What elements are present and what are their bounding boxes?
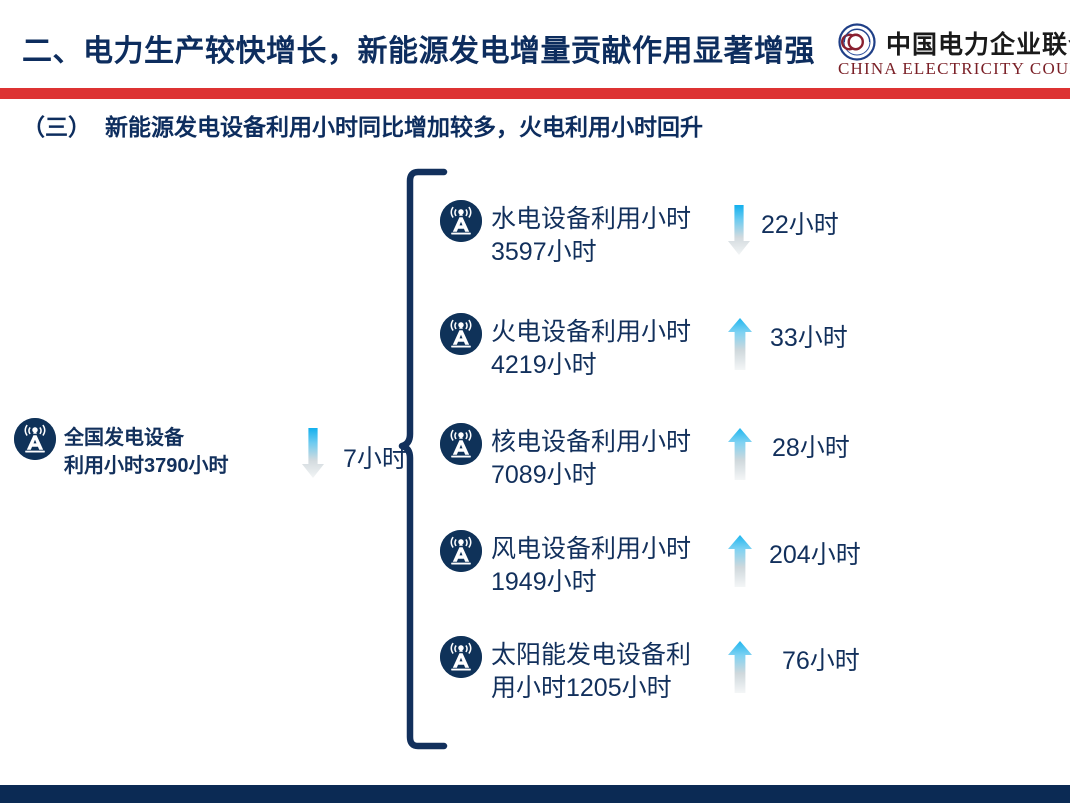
list-item-hydro[interactable]: 水电设备利用小时 3597小时 22小时	[440, 200, 910, 269]
list-item-label-line1: 风电设备利用小时	[491, 533, 726, 566]
list-item-delta-value: 28小时	[772, 426, 850, 464]
list-item-label: 太阳能发电设备利 用小时1205小时	[491, 636, 726, 705]
list-item-trend: 204小时	[726, 530, 861, 594]
list-item-label-line2: 1949小时	[491, 566, 726, 599]
list-item-delta-value: 33小时	[770, 316, 848, 354]
list-item-thermal[interactable]: 火电设备利用小时 4219小时 33小时	[440, 313, 910, 382]
subtitle-number: （三）	[22, 114, 91, 140]
list-item-label-line2: 4219小时	[491, 349, 726, 382]
section-subtitle: （三）新能源发电设备利用小时同比增加较多，火电利用小时回升	[22, 108, 703, 142]
root-node-label-line2: 利用小时3790小时	[64, 452, 229, 480]
power-tower-icon	[14, 418, 56, 460]
list-item-label-line2: 3597小时	[491, 236, 726, 269]
arrow-up-icon	[726, 426, 760, 487]
power-utilization-diagram: 全国发电设备 利用小时3790小时 7小时	[0, 150, 1070, 760]
subtitle-text: 新能源发电设备利用小时同比增加较多，火电利用小时回升	[105, 114, 703, 140]
list-item-label: 水电设备利用小时 3597小时	[491, 200, 726, 269]
logo-chinese-name: 中国电力企业联合会	[886, 25, 1070, 61]
list-item-trend: 33小时	[726, 313, 848, 377]
root-node-label: 全国发电设备 利用小时3790小时	[64, 418, 229, 481]
page-header: 二、电力生产较快增长，新能源发电增量贡献作用显著增强 中国电力企业联合会 CHI…	[0, 0, 1070, 88]
list-item-label-line1: 水电设备利用小时	[491, 203, 726, 236]
list-item-label-line1: 太阳能发电设备利	[491, 639, 726, 672]
footer-bar	[0, 785, 1070, 803]
list-item-delta-value: 22小时	[761, 203, 839, 241]
page-title: 二、电力生产较快增长，新能源发电增量贡献作用显著增强	[22, 26, 815, 70]
power-tower-icon	[440, 313, 482, 355]
power-tower-icon	[440, 423, 482, 465]
cec-circular-emblem-icon	[838, 23, 876, 61]
arrow-down-icon	[300, 426, 334, 487]
list-item-solar[interactable]: 太阳能发电设备利 用小时1205小时 76小时	[440, 636, 910, 705]
power-tower-icon	[440, 200, 482, 242]
arrow-up-icon	[726, 316, 760, 377]
list-item-trend: 28小时	[726, 423, 850, 487]
logo-english-name: CHINA ELECTRICITY COUNCIL	[838, 59, 1070, 79]
list-item-delta-value: 76小时	[782, 639, 860, 677]
root-node-trend: 7小时	[300, 426, 407, 487]
power-tower-icon	[440, 636, 482, 678]
list-item-delta-value: 204小时	[769, 533, 861, 571]
list-item-label-line1: 核电设备利用小时	[491, 426, 726, 459]
list-item-label-line2: 7089小时	[491, 459, 726, 492]
arrow-up-icon	[726, 533, 760, 594]
header-red-divider	[0, 88, 1070, 99]
list-item-trend: 76小时	[726, 636, 860, 700]
list-item-label-line2: 用小时1205小时	[491, 672, 726, 705]
list-item-label: 风电设备利用小时 1949小时	[491, 530, 726, 599]
list-item-label: 核电设备利用小时 7089小时	[491, 423, 726, 492]
list-item-nuclear[interactable]: 核电设备利用小时 7089小时 28小时	[440, 423, 910, 492]
arrow-up-icon	[726, 639, 760, 700]
root-node-label-line1: 全国发电设备	[64, 424, 229, 452]
arrow-down-icon	[726, 203, 760, 264]
list-item-trend: 22小时	[726, 200, 839, 264]
power-tower-icon	[440, 530, 482, 572]
list-item-label: 火电设备利用小时 4219小时	[491, 313, 726, 382]
list-item-wind[interactable]: 风电设备利用小时 1949小时 204小时	[440, 530, 910, 599]
organization-logo: 中国电力企业联合会 CHINA ELECTRICITY COUNCIL	[838, 21, 1060, 81]
root-node-total-generation[interactable]: 全国发电设备 利用小时3790小时	[14, 418, 314, 481]
list-item-label-line1: 火电设备利用小时	[491, 316, 726, 349]
